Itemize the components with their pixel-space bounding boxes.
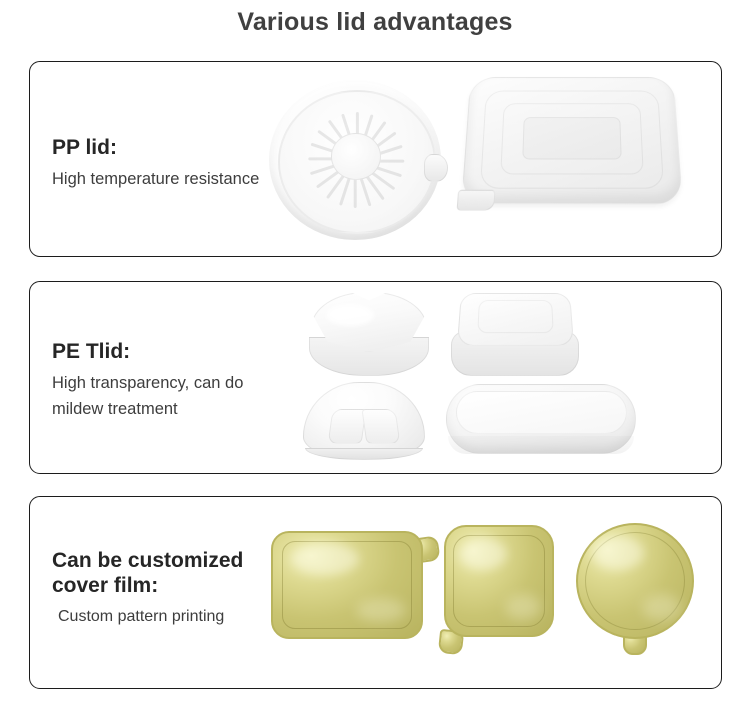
- lid-inner-panel: [327, 409, 366, 444]
- lid-lip: [305, 448, 422, 460]
- oval-flat-pe-lid-image: [446, 384, 636, 454]
- page-title: Various lid advantages: [0, 8, 750, 37]
- square-pe-lid-image: [451, 290, 579, 376]
- card-pe-lid: PE Tlid: High transparency, can do milde…: [29, 281, 722, 474]
- card-cover-film-heading: Can be customized cover film:: [52, 549, 243, 599]
- lid-pull-tab: [424, 154, 448, 182]
- gold-foil-square-lid-image: [444, 525, 554, 637]
- card-pp-lid-heading: PP lid:: [52, 136, 259, 161]
- card-pp-lid: PP lid: High temperature resistance: [29, 61, 722, 257]
- heart-dome-pe-lid-image: [309, 292, 429, 376]
- card-pp-lid-images: [261, 62, 721, 256]
- card-cover-film-description: Custom pattern printing: [52, 604, 243, 630]
- gold-foil-rectangular-lid-image: [271, 531, 423, 639]
- card-pe-lid-heading: PE Tlid:: [52, 340, 243, 365]
- card-pe-lid-text: PE Tlid: High transparency, can do milde…: [52, 340, 243, 423]
- foil-highlight: [291, 543, 359, 574]
- gold-foil-round-lid-image: [576, 523, 694, 639]
- lid-skirt: [448, 436, 634, 454]
- lid-corner-tab: [457, 190, 496, 211]
- round-dome-pe-lid-image: [303, 382, 425, 458]
- lid-highlight: [326, 304, 374, 326]
- card-cover-film: Can be customized cover film: Custom pat…: [29, 496, 722, 689]
- lid-groove: [523, 117, 622, 160]
- foil-plate: [444, 525, 554, 637]
- foil-plate: [271, 531, 423, 639]
- card-pe-lid-images: [261, 282, 721, 473]
- rectangular-pp-lid-image: [461, 77, 683, 204]
- foil-plate: [576, 523, 694, 639]
- card-pp-lid-description: High temperature resistance: [52, 166, 259, 193]
- card-cover-film-images: [261, 497, 721, 688]
- card-pe-lid-description: High transparency, can do mildew treatme…: [52, 370, 243, 423]
- card-cover-film-text: Can be customized cover film: Custom pat…: [52, 549, 243, 629]
- lid-inset: [477, 300, 554, 333]
- foil-highlight: [642, 594, 681, 621]
- lid-inner-panel: [362, 409, 401, 444]
- lid-center-hub: [331, 133, 381, 180]
- lid-top: [457, 293, 574, 346]
- foil-highlight: [592, 536, 644, 570]
- card-pp-lid-text: PP lid: High temperature resistance: [52, 136, 259, 192]
- foil-highlight: [505, 594, 541, 620]
- lid-inner-panel: [456, 391, 627, 434]
- round-ribbed-pp-lid-image: [269, 80, 441, 240]
